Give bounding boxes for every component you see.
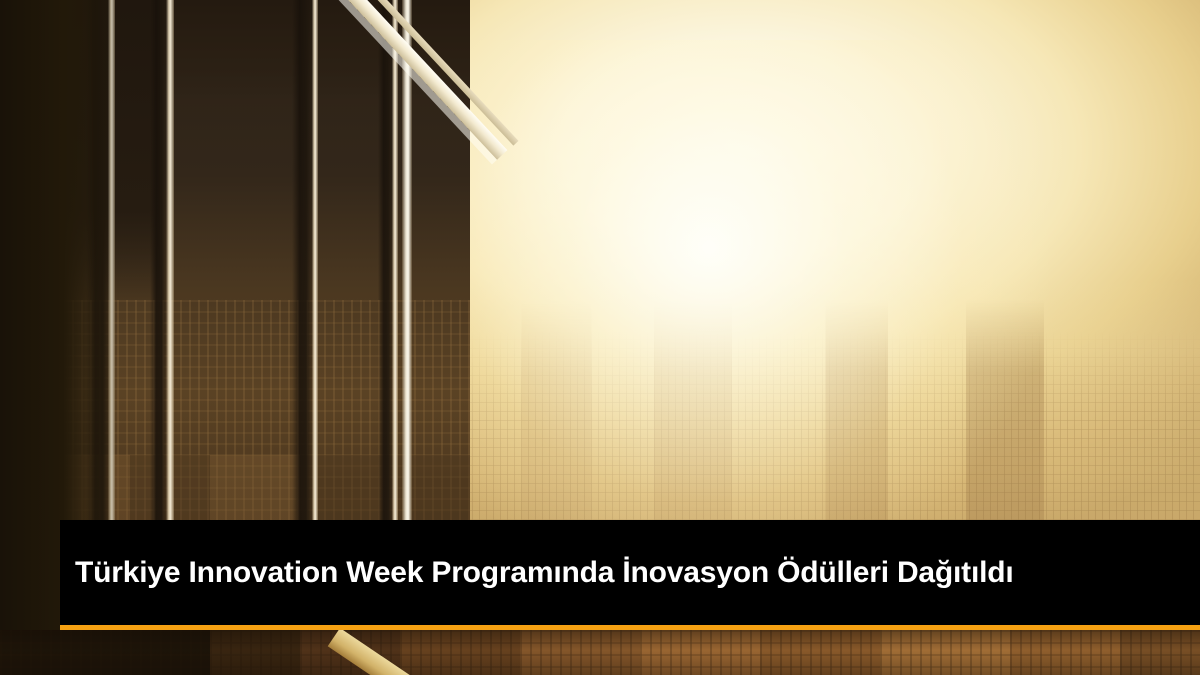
accent-rule: [60, 625, 1200, 630]
headline-title: Türkiye Innovation Week Programında İnov…: [60, 555, 1034, 590]
news-banner-image: Türkiye Innovation Week Programında İnov…: [0, 0, 1200, 675]
headline-panel: Türkiye Innovation Week Programında İnov…: [60, 520, 1200, 625]
foreground-buildings-shading: [0, 630, 1200, 675]
